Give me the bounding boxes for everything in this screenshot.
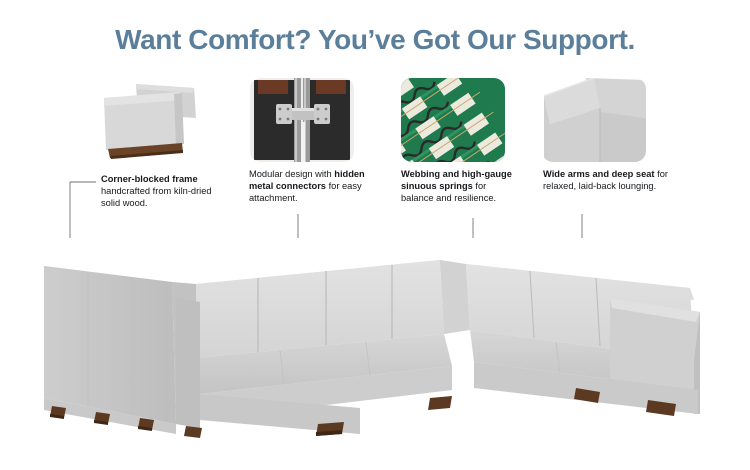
caption-webbing-springs: Webbing and high-gauge sinuous springs f… [401,168,521,205]
webbing-springs-thumbnail [401,78,505,162]
caption-bold-lead: Webbing and high-gauge sinuous springs [401,169,512,191]
infographic-canvas: Want Comfort? You’ve Got Our Support. [0,0,750,470]
corner-module-thumbnail [98,78,202,162]
caption-pre: Modular design with [249,169,334,179]
caption-bold-lead: Wide arms and deep seat [543,169,655,179]
caption-rest: handcrafted from kiln-dried solid wood. [101,186,212,208]
metal-connector-thumbnail [250,78,354,162]
caption-bold-lead: Corner-blocked frame [101,174,198,184]
caption-wide-arms-deep-seat: Wide arms and deep seat for relaxed, lai… [543,168,683,192]
caption-corner-blocked-frame: Corner-blocked frame handcrafted from ki… [101,173,233,210]
wide-arm-thumbnail [542,78,646,162]
page-title: Want Comfort? You’ve Got Our Support. [0,24,750,56]
caption-hidden-metal-connectors: Modular design with hidden metal connect… [249,168,377,205]
product-image-sectional-sofa [0,238,750,438]
